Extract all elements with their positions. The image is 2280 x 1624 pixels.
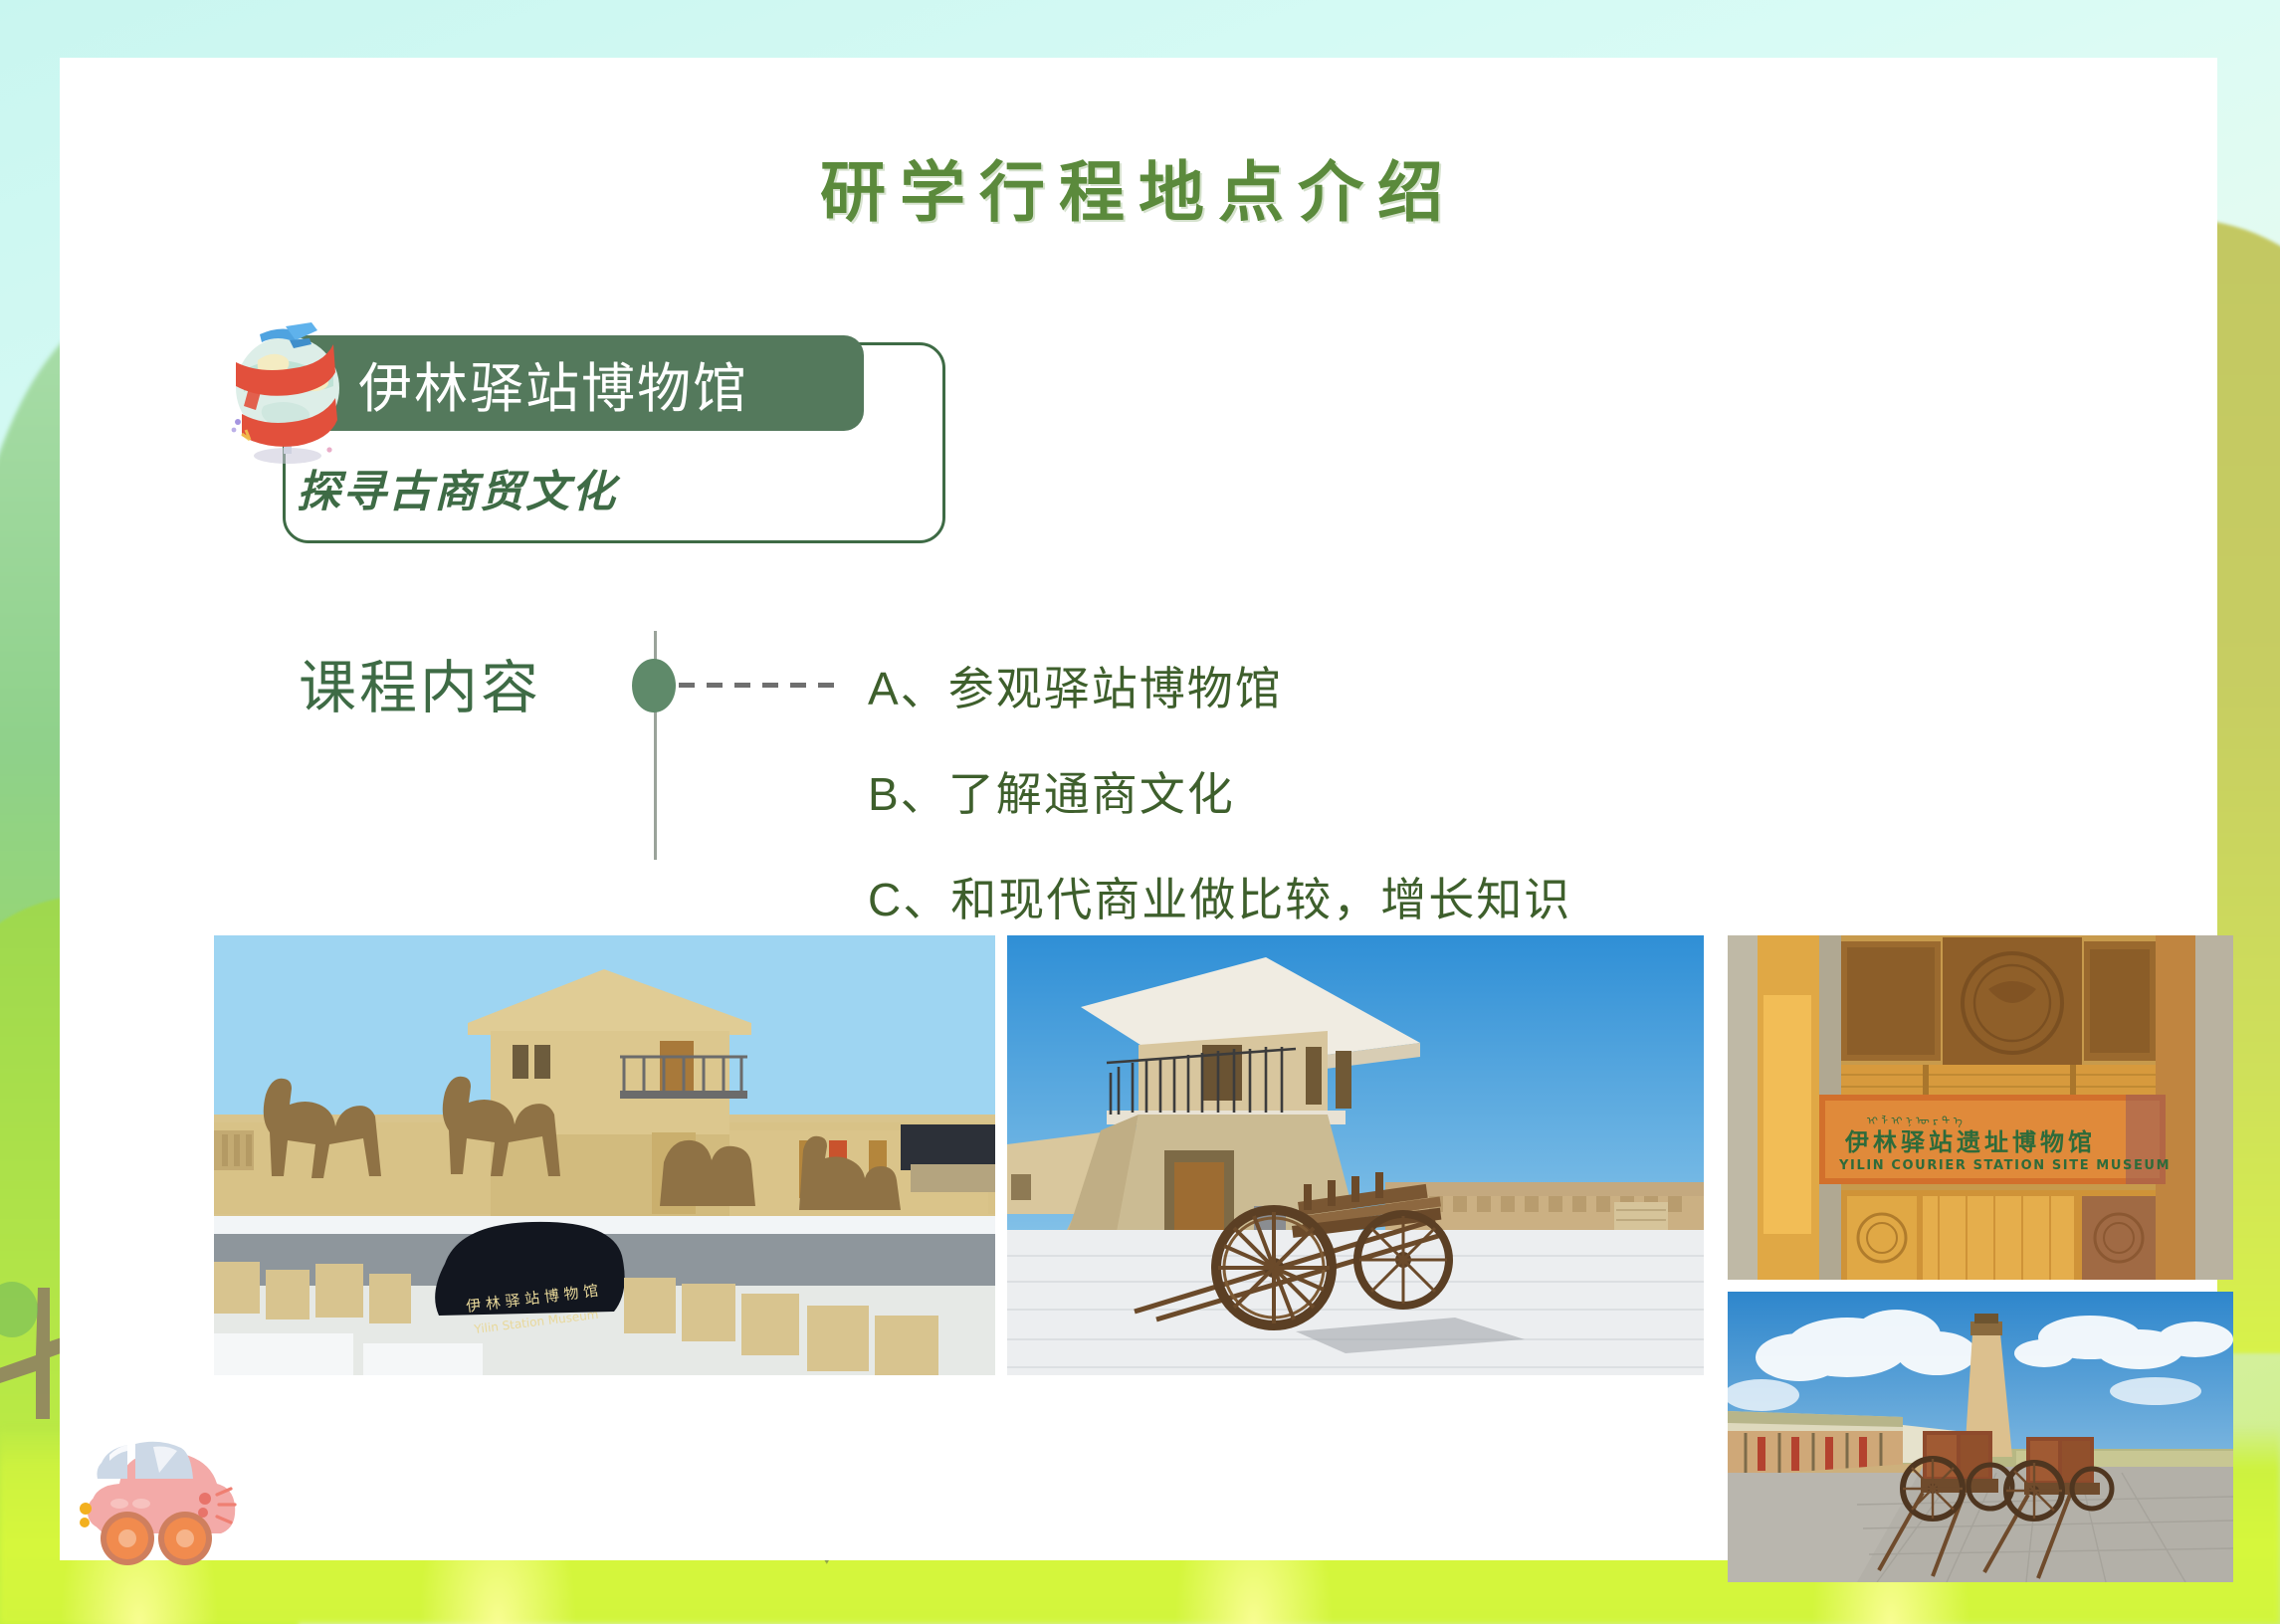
list-item: C、和现代商业做比较，增长知识 (868, 864, 1571, 929)
list-item: A、参观驿站博物馆 (868, 653, 1571, 718)
photo-watchtower-cart (1007, 935, 1704, 1375)
list-item-text: 了解通商文化 (948, 768, 1235, 820)
globe-airplane-icon (224, 314, 351, 466)
timeline-dot (632, 659, 676, 712)
svg-text:YILIN COURIER STATION SITE MUS: YILIN COURIER STATION SITE MUSEUM (1838, 1158, 2171, 1173)
list-item-text: 参观驿站博物馆 (948, 663, 1283, 714)
page-title: 研学行程地点介绍 (60, 139, 2217, 235)
list-item-marker: B、 (868, 768, 948, 820)
photo-carts-beacon-tower (1728, 1292, 2233, 1582)
photo-camels-museum: 伊 林 驿 站 博 物 馆 Yilin Station Museum (214, 935, 995, 1375)
location-name-pill: 伊林驿站博物馆 (273, 335, 864, 431)
photo-museum-plaque: ᠢ ᠯ ᠢ ᠨ ᠥ ᠷ ᠲ ᠡ 伊林驿站遗址博物馆 YILIN COURIER … (1728, 935, 2233, 1280)
course-item-list: A、参观驿站博物馆 B、了解通商文化 C、和现代商业做比较，增长知识 (868, 653, 1571, 969)
list-item-text: 和现代商业做比较，增长知识 (950, 874, 1571, 925)
list-item-marker: A、 (868, 663, 948, 714)
svg-text:伊林驿站遗址博物馆: 伊林驿站遗址博物馆 (1844, 1128, 2096, 1156)
svg-text:ᠢ ᠯ ᠢ ᠨ ᠥ ᠷ ᠲ ᠡ: ᠢ ᠯ ᠢ ᠨ ᠥ ᠷ ᠲ ᠡ (1867, 1115, 1963, 1127)
course-content-label: 课程内容 (299, 641, 541, 724)
list-item-marker: C、 (868, 874, 950, 925)
slide-card: 研学行程地点介绍 伊林驿站博物馆 探寻古商贸文化 课程内容 A、参观驿站博物馆 … (60, 58, 2217, 1560)
pink-car-icon (58, 1411, 257, 1570)
dashed-connector (679, 683, 838, 688)
list-item: B、了解通商文化 (868, 758, 1571, 824)
